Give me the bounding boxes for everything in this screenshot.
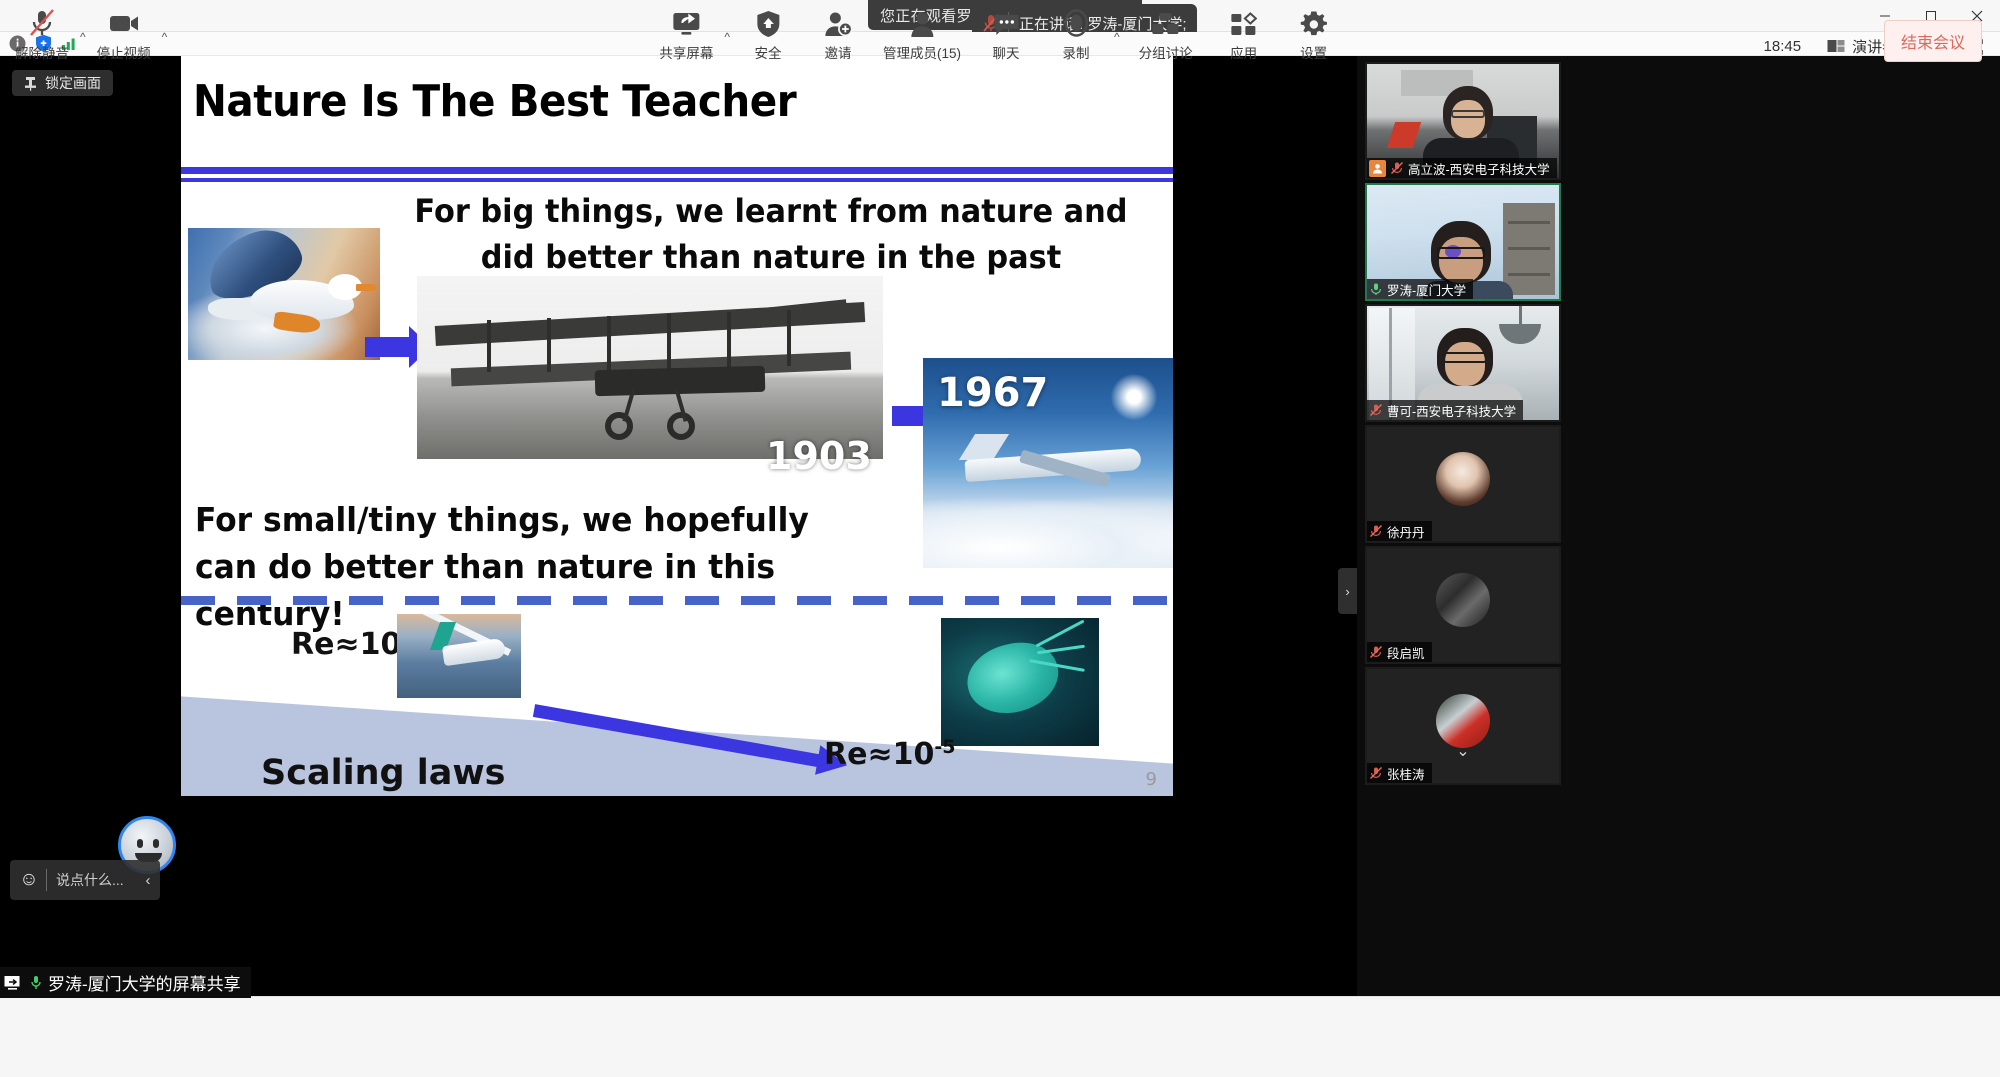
mic-muted-icon	[1390, 161, 1404, 175]
emoji-icon[interactable]: ☺	[12, 860, 46, 900]
settings-button[interactable]: 设置	[1282, 8, 1346, 62]
participant-tile[interactable]: 曹可-西安电子科技大学	[1365, 304, 1561, 422]
invite-button[interactable]: 邀请	[806, 8, 870, 62]
reynolds-small-exponent: -5	[934, 736, 955, 758]
share-mic-icon	[30, 975, 42, 991]
pin-icon	[24, 76, 37, 91]
reynolds-big-base: Re≈10	[291, 627, 401, 662]
participant-tile[interactable]: 高立波-西安电子科技大学	[1365, 62, 1561, 180]
unmute-button[interactable]: 解除静音	[10, 8, 74, 62]
invite-label: 邀请	[825, 42, 852, 62]
year-label-1903: 1903	[766, 434, 872, 478]
avatar	[1436, 452, 1490, 506]
breakout-label: 分组讨论	[1139, 42, 1193, 62]
settings-label: 设置	[1300, 42, 1327, 62]
participant-tile[interactable]: 罗涛-厦门大学	[1365, 183, 1561, 301]
participant-name: 曹可-西安电子科技大学	[1387, 401, 1516, 420]
mic-muted-icon	[1369, 766, 1383, 780]
participant-namebar: 罗涛-厦门大学	[1367, 279, 1473, 299]
toolbar-left-group: 解除静音 ^ 停止视频 ^	[10, 8, 167, 62]
share-options-caret[interactable]: ^	[724, 30, 730, 44]
shield-icon	[755, 8, 781, 38]
slide-divider-thick	[181, 167, 1173, 174]
record-label: 录制	[1063, 42, 1090, 62]
screen-share-icon	[4, 975, 24, 991]
mic-muted-icon	[1369, 524, 1383, 538]
share-screen-icon	[671, 8, 701, 38]
stop-video-label: 停止视频	[97, 42, 151, 62]
participants-icon	[908, 8, 936, 38]
reynolds-small-label: Re≈10-5	[824, 736, 955, 772]
participant-tile[interactable]: 徐丹丹	[1365, 425, 1561, 543]
unmute-label: 解除静音	[15, 42, 69, 62]
mic-active-icon	[1369, 282, 1383, 296]
slide-paragraph-2: For small/tiny things, we hopefully can …	[195, 496, 879, 637]
record-icon	[1062, 8, 1090, 38]
manage-participants-button[interactable]: 管理成员(15)	[876, 8, 968, 62]
invite-icon	[823, 8, 853, 38]
security-button[interactable]: 安全	[736, 8, 800, 62]
participant-namebar: 曹可-西安电子科技大学	[1367, 400, 1523, 420]
participant-namebar: 徐丹丹	[1367, 521, 1432, 541]
chevron-down-icon[interactable]: ⌄	[1456, 741, 1469, 761]
participant-name: 高立波-西安电子科技大学	[1408, 159, 1550, 178]
scaling-laws-label: Scaling laws	[261, 753, 506, 793]
participant-tile[interactable]: ⌄ 张桂涛	[1365, 667, 1561, 785]
apps-label: 应用	[1230, 42, 1257, 62]
security-label: 安全	[755, 42, 782, 62]
slide-title: Nature Is The Best Teacher	[193, 76, 796, 127]
record-button[interactable]: 录制	[1044, 8, 1108, 62]
chat-input-placeholder[interactable]: 说点什么...	[47, 870, 138, 890]
business-jet-photo	[397, 614, 521, 698]
participant-name: 罗涛-厦门大学	[1387, 280, 1466, 299]
chat-label: 聊天	[993, 42, 1020, 62]
slide-divider-thin	[181, 178, 1173, 182]
participant-tile[interactable]: 段启凯	[1365, 546, 1561, 664]
zoom-meeting-window: 您正在观看罗涛-厦门大学的屏幕 正在讲话: 罗涛-厦门大学;	[0, 0, 2000, 1077]
slide-number: 9	[1146, 769, 1157, 790]
dashed-separator	[181, 596, 1173, 605]
mic-muted-icon	[28, 8, 56, 38]
breakout-icon	[1151, 8, 1181, 38]
apps-icon	[1230, 8, 1258, 38]
airliner-photo: 1967	[923, 358, 1173, 568]
video-icon	[108, 8, 140, 38]
mic-muted-icon	[1369, 645, 1383, 659]
participant-namebar: 张桂涛	[1367, 763, 1432, 783]
stop-video-button[interactable]: 停止视频	[92, 8, 156, 62]
reynolds-small-base: Re≈10	[824, 737, 934, 772]
screen-share-banner: 罗涛-厦门大学的屏幕共享	[0, 967, 251, 998]
share-screen-button[interactable]: 共享屏幕	[654, 8, 718, 62]
chat-collapse-icon[interactable]: ‹	[138, 872, 158, 889]
audio-options-caret[interactable]: ^	[80, 30, 86, 44]
year-label-1967: 1967	[937, 370, 1048, 416]
biplane-photo	[417, 276, 883, 459]
avatar	[1436, 573, 1490, 627]
lock-screen-button[interactable]: 锁定画面	[12, 70, 113, 96]
participant-namebar: 段启凯	[1367, 642, 1432, 662]
host-icon	[1369, 160, 1386, 177]
participant-thumbnails: 高立波-西安电子科技大学 罗涛-厦门大学 曹可-西安电子科技大学	[1365, 62, 1561, 788]
share-screen-label: 共享屏幕	[659, 42, 713, 62]
screen-share-text: 罗涛-厦门大学的屏幕共享	[48, 970, 241, 995]
quick-chat-bar[interactable]: ☺ 说点什么... ‹	[10, 860, 160, 900]
arrow-bird-to-biplane	[365, 337, 411, 357]
participant-name: 张桂涛	[1387, 764, 1425, 783]
end-meeting-button[interactable]: 结束会议	[1884, 20, 1982, 62]
record-options-caret[interactable]: ^	[1114, 30, 1120, 44]
shared-screen-stage: 锁定画面 Nature Is The Best Teacher For big …	[0, 56, 1357, 996]
speaker-view-icon	[1827, 39, 1845, 55]
video-options-caret[interactable]: ^	[162, 30, 168, 44]
presentation-slide: Nature Is The Best Teacher For big thing…	[181, 56, 1173, 796]
seagull-photo	[188, 228, 380, 360]
participant-namebar: 高立波-西安电子科技大学	[1367, 158, 1557, 178]
lock-screen-label: 锁定画面	[45, 73, 101, 93]
breakout-rooms-button[interactable]: 分组讨论	[1126, 8, 1206, 62]
stage-chat-widget: ☺ 说点什么... ‹	[10, 860, 160, 900]
mic-muted-icon	[1369, 403, 1383, 417]
meeting-clock: 18:45	[1758, 37, 1808, 56]
chat-button[interactable]: 聊天	[974, 8, 1038, 62]
participant-name: 徐丹丹	[1387, 522, 1425, 541]
manage-participants-label: 管理成员(15)	[883, 42, 961, 62]
apps-button[interactable]: 应用	[1212, 8, 1276, 62]
filmstrip-toggle-tab[interactable]: ›	[1338, 568, 1357, 614]
chat-icon	[992, 8, 1020, 38]
meeting-toolbar	[0, 996, 2000, 1077]
gear-icon	[1300, 8, 1327, 38]
toolbar-center-group: 共享屏幕 ^ 安全 邀请	[654, 8, 1345, 62]
bacteria-photo	[941, 618, 1099, 746]
participant-name: 段启凯	[1387, 643, 1425, 662]
